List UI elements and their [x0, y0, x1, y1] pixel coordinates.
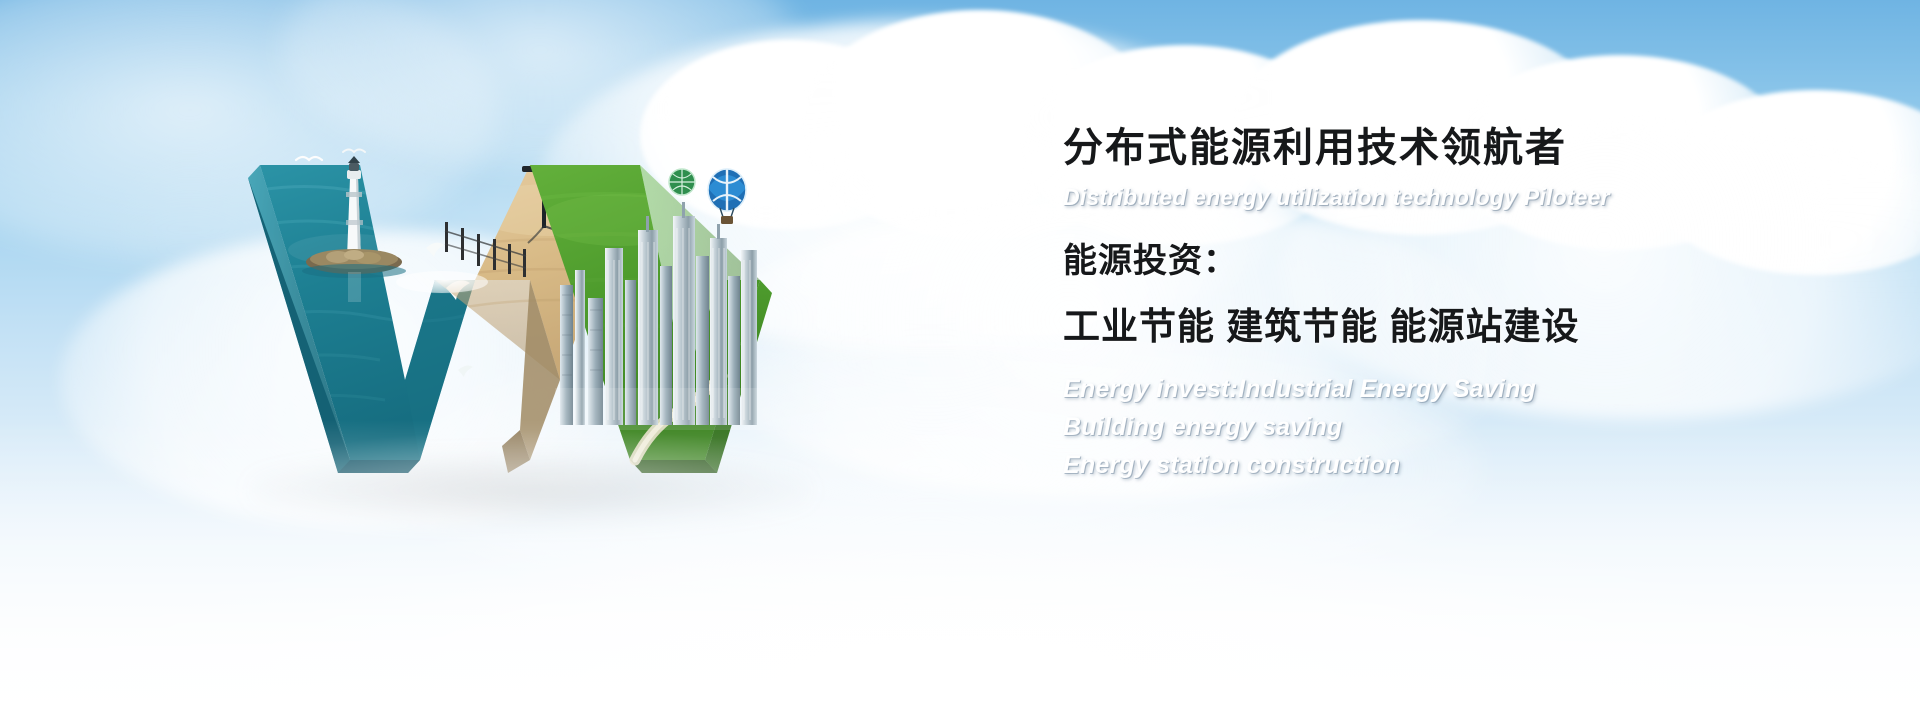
seagull-icon [296, 157, 322, 160]
services-english-line-3: Energy station construction [1063, 446, 1863, 484]
seagull-icon [458, 366, 473, 377]
seagull-icon [426, 243, 444, 257]
bottom-glow [210, 530, 1710, 720]
seagull-icon [343, 150, 365, 153]
services-english-line-1: Energy invest:Industrial Energy Saving [1063, 370, 1863, 408]
hot-air-balloon-icon [708, 169, 746, 224]
section-label-chinese: 能源投资： [1063, 233, 1863, 282]
headline-chinese: 分布式能源利用技术领航者 [1063, 125, 1863, 172]
ocean-panel [248, 150, 475, 474]
letter-w-artwork [230, 130, 870, 530]
services-english-list: Energy invest:Industrial Energy Saving B… [1063, 370, 1863, 484]
banner-copy: 分布式能源利用技术领航者 Distributed energy utilizat… [1063, 125, 1863, 484]
globe-icon [669, 169, 695, 195]
hero-banner: 分布式能源利用技术领航者 Distributed energy utilizat… [0, 0, 1920, 720]
subtitle-english: Distributed energy utilization technolog… [1063, 184, 1863, 211]
services-english-line-2: Building energy saving [1063, 408, 1863, 446]
services-chinese: 工业节能 建筑节能 能源站建设 [1063, 296, 1863, 350]
grass-panel [530, 165, 772, 473]
